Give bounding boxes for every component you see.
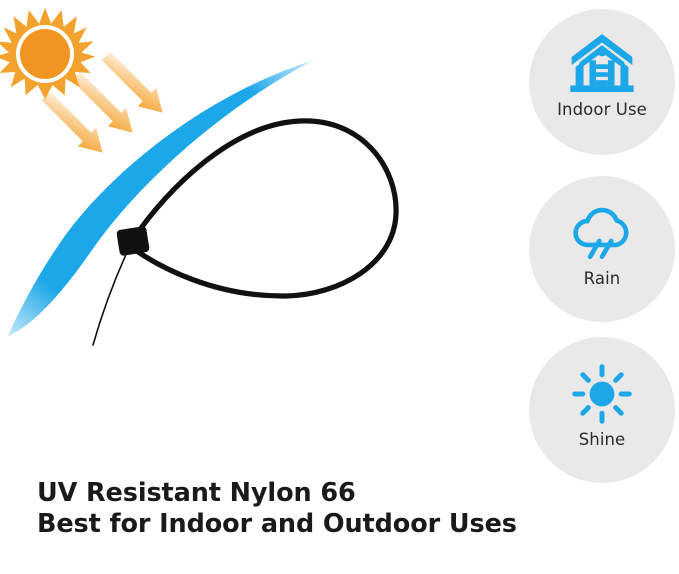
sun-core-disc [20,29,70,79]
headline-line-2: Best for Indoor and Outdoor Uses [37,509,477,540]
feature-badge-list: Indoor Use Rain [529,0,679,500]
product-feature-graphic: UV Resistant Nylon 66 Best for Indoor an… [0,0,679,574]
feature-badge-indoor-use[interactable]: Indoor Use [529,9,675,155]
cable-tie-loop [93,121,396,345]
feature-badge-shine[interactable]: Shine [529,337,675,483]
cropped-footer-text [105,560,525,570]
feature-badge-label: Rain [584,269,621,289]
cable-tie-tail [93,250,128,345]
sun-shine-icon [569,363,635,425]
feature-badge-label: Shine [579,430,626,450]
feature-badge-label: Indoor Use [557,100,647,120]
product-headline: UV Resistant Nylon 66 Best for Indoor an… [37,478,477,540]
house-icon [569,31,635,95]
uv-protection-cable-tie-illustration [0,0,470,400]
headline-line-1: UV Resistant Nylon 66 [37,478,477,509]
cable-tie-head [116,226,150,256]
sun-disc [590,382,615,407]
rain-cloud-icon [569,202,635,264]
feature-badge-rain[interactable]: Rain [529,176,675,322]
